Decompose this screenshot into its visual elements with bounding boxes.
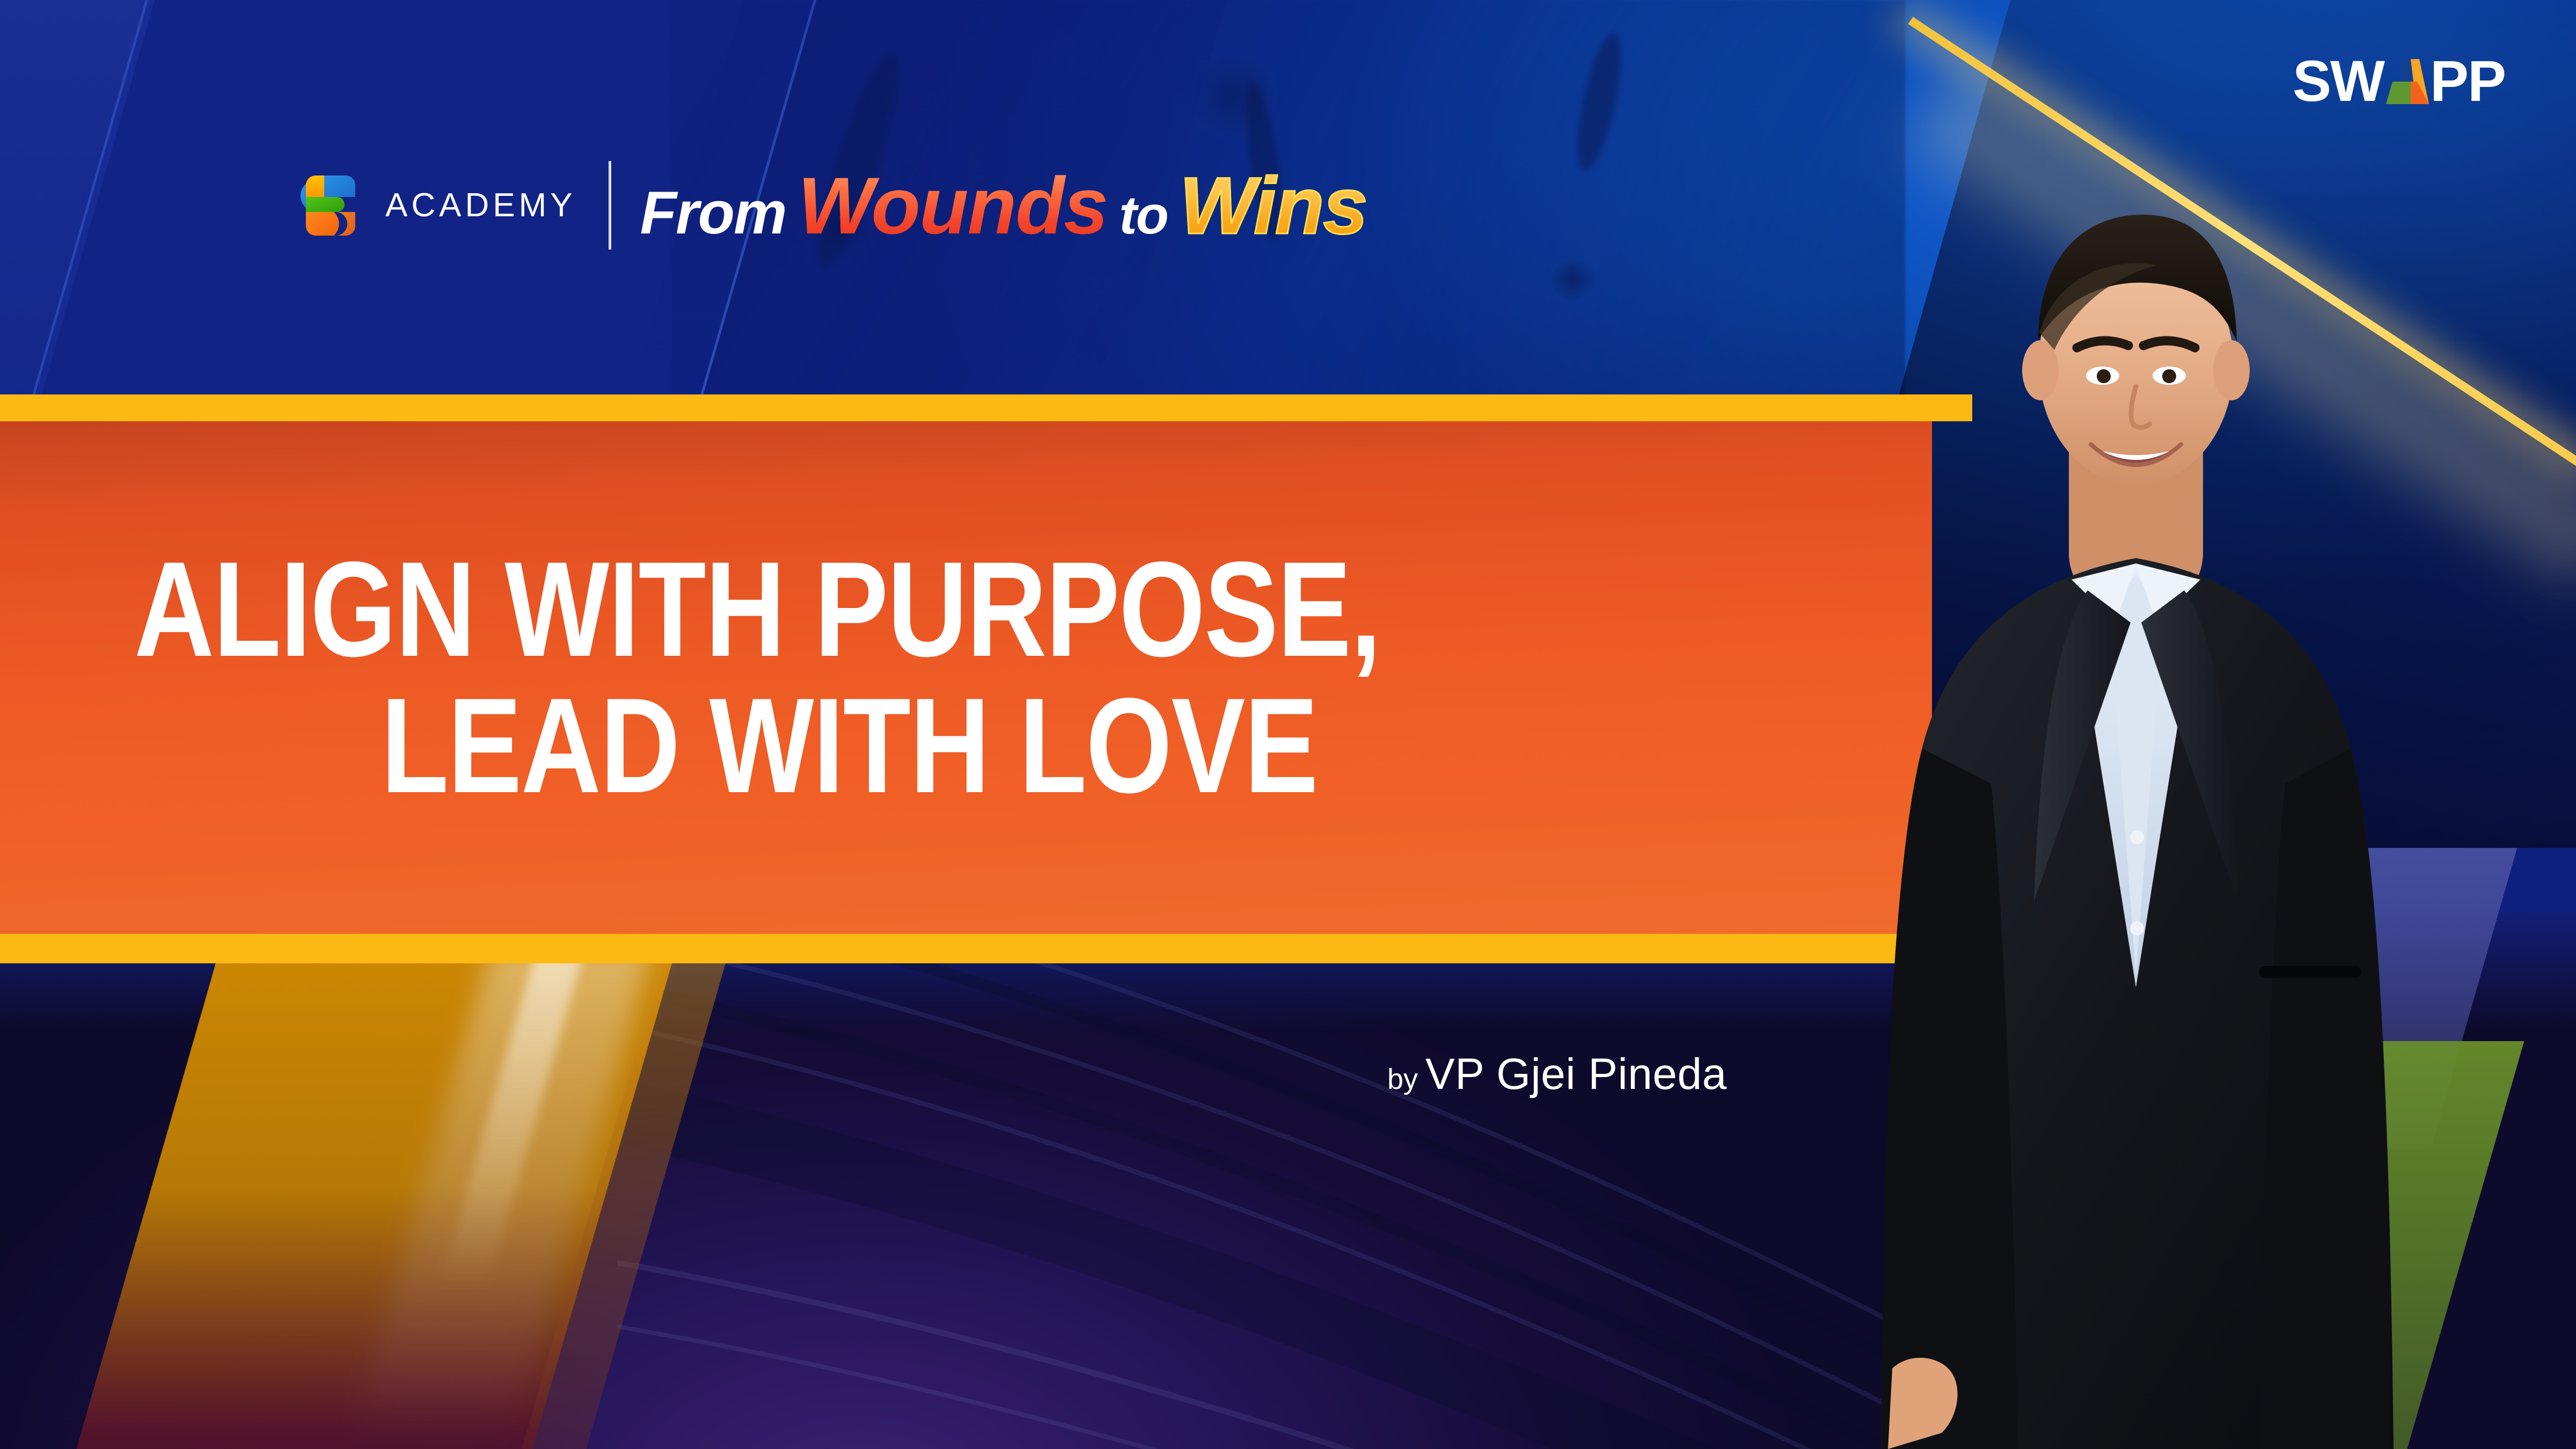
series-word-to: to [1119, 188, 1167, 242]
series-word-wins: Wins [1180, 165, 1367, 246]
svg-text:SW: SW [2293, 52, 2385, 113]
swapp-logo-icon: SW PP [2293, 52, 2507, 115]
series-word-from: From [640, 183, 786, 243]
promo-banner-canvas: ACADEMY From Wounds to Wins SW PP ALIGN … [0, 0, 2576, 1449]
speaker-portrait [1787, 150, 2485, 1449]
series-title: From Wounds to Wins [640, 165, 1367, 246]
byline: by VP Gjei Pineda [1387, 1049, 1727, 1100]
headline-line-2: LEAD WITH LOVE [381, 684, 1653, 808]
banner-bottom-accent-bar [0, 934, 1911, 963]
series-word-wounds: Wounds [798, 165, 1108, 246]
byline-speaker-name: VP Gjei Pineda [1425, 1049, 1727, 1100]
header-divider [609, 161, 611, 250]
headline-line-1: ALIGN WITH PURPOSE, [134, 547, 1608, 672]
byline-prefix: by [1387, 1063, 1418, 1096]
header-lockup: ACADEMY From Wounds to Wins [301, 161, 1367, 250]
svg-text:PP: PP [2430, 52, 2505, 113]
banner-top-accent-bar [0, 394, 1972, 421]
s-ribbon-logo-icon [301, 171, 361, 240]
headline-block: ALIGN WITH PURPOSE, LEAD WITH LOVE [0, 421, 1932, 934]
academy-label: ACADEMY [385, 186, 576, 224]
